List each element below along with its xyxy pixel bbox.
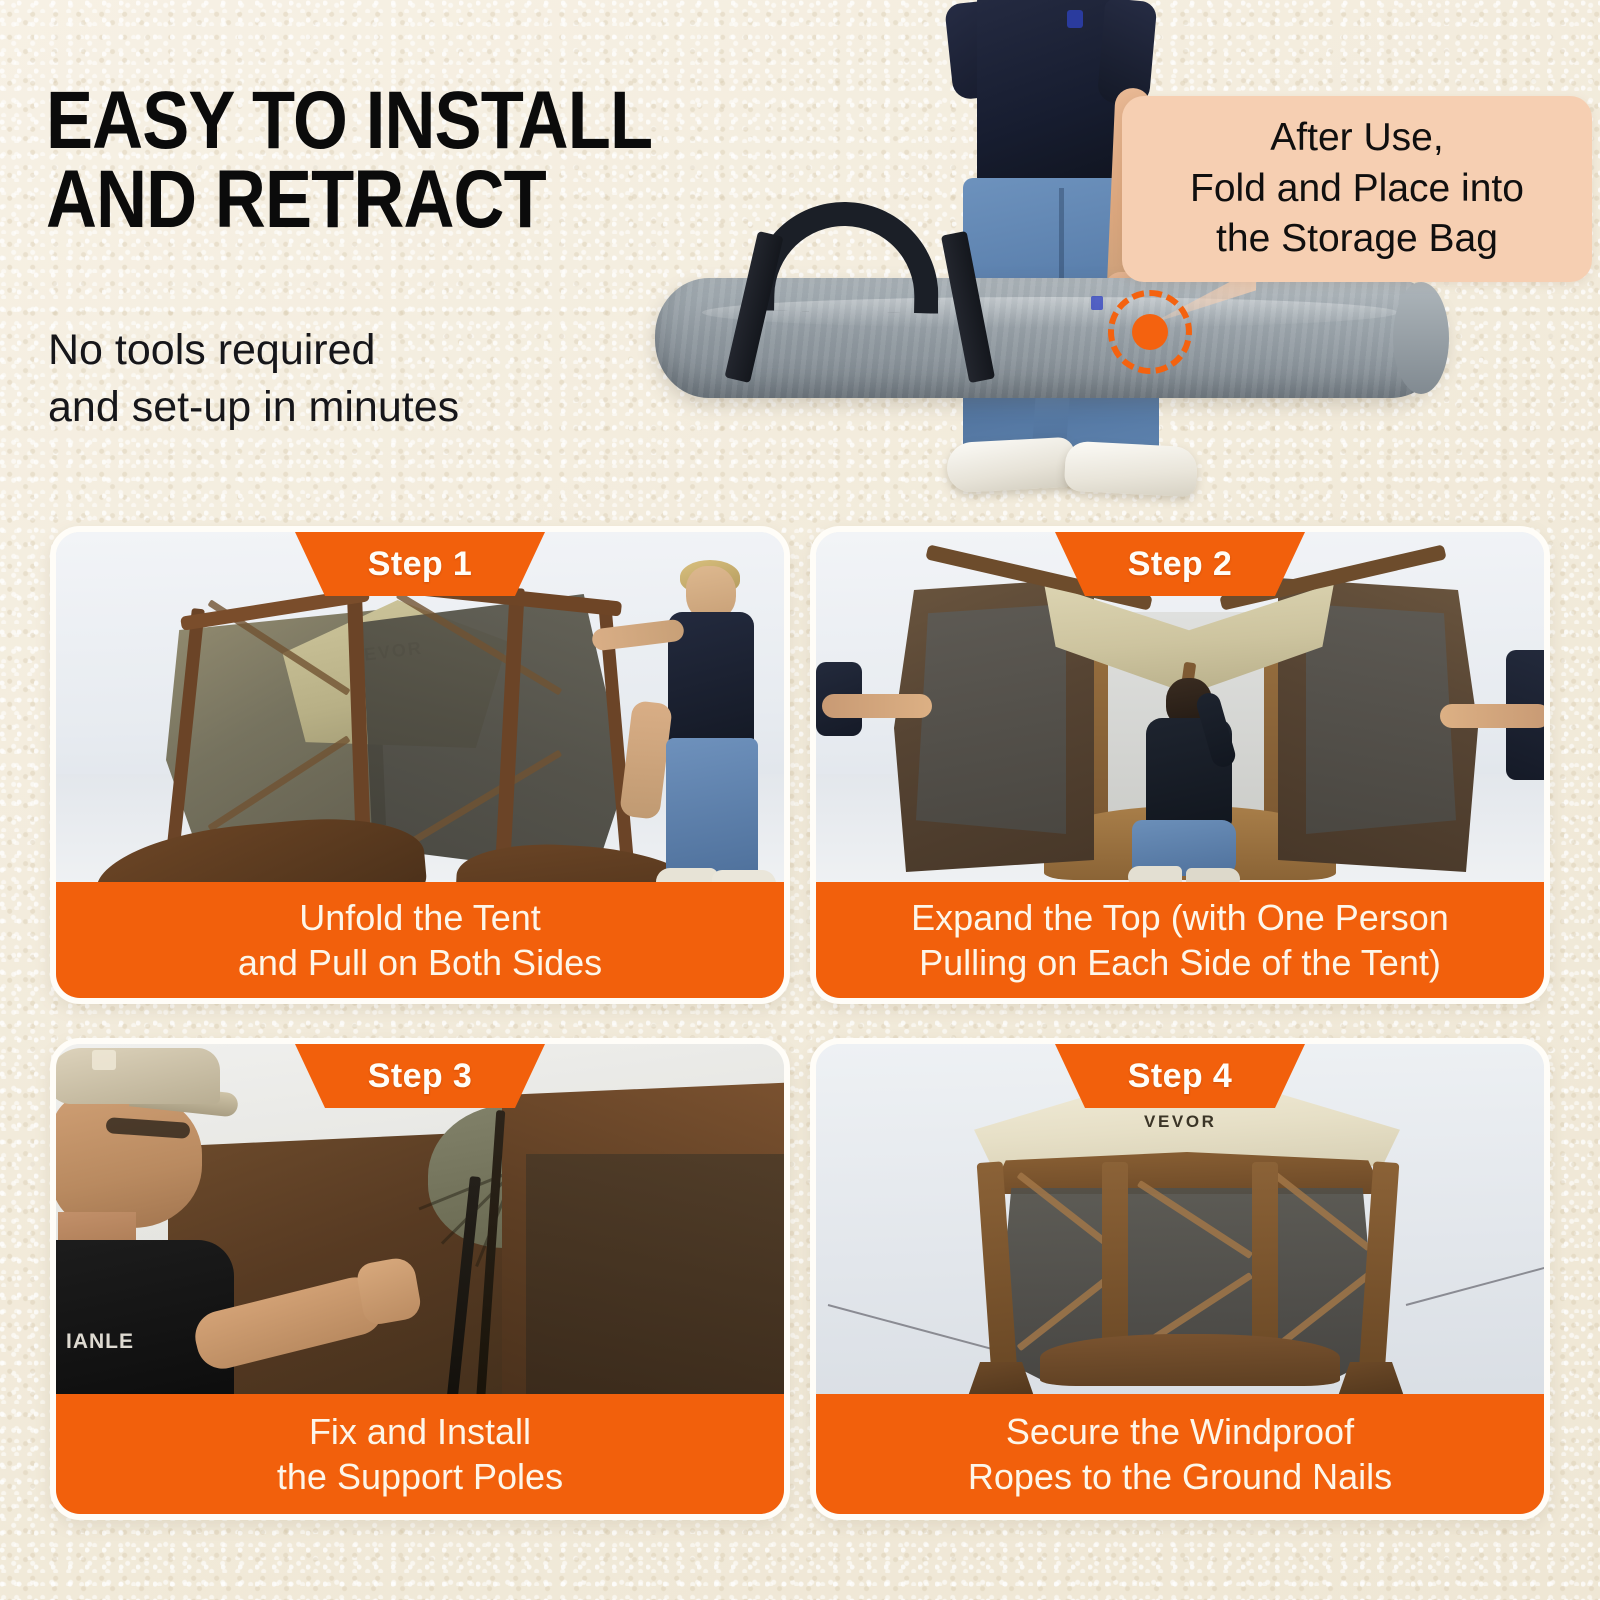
corner-post (1359, 1161, 1400, 1374)
step-2-badge-label: Step 2 (1128, 545, 1232, 584)
helper-hands (894, 554, 1478, 894)
step-1-badge: Step 1 (295, 532, 545, 596)
step-2-caption-line-2: Pulling on Each Side of the Tent) (919, 942, 1441, 983)
tent-mesh-closeup (526, 1154, 784, 1396)
step-2-caption-text: Expand the Top (with One Person Pulling … (911, 895, 1449, 985)
step-2-badge: Step 2 (1055, 532, 1305, 596)
tshirt-logo-patch (1067, 10, 1083, 28)
bag-label-tag (1091, 296, 1103, 310)
baseball-cap (56, 1048, 220, 1104)
step-3-caption-line-1: Fix and Install (309, 1411, 531, 1452)
step-card-1[interactable]: VEVOR Step 1 (50, 526, 790, 1004)
cross-brace (1273, 1172, 1372, 1251)
callout-text: After Use, Fold and Place into the Stora… (1190, 113, 1524, 265)
subtitle-line-2: and set-up in minutes (48, 379, 688, 436)
cross-brace (1017, 1172, 1116, 1251)
step-card-3[interactable]: IANLE Step 3 Fix and Install the Support… (50, 1038, 790, 1520)
cross-brace (1137, 1180, 1253, 1259)
step-4-caption-bar: Secure the Windproof Ropes to the Ground… (816, 1394, 1544, 1514)
collapsed-tent: VEVOR (166, 584, 626, 874)
helper-hand-left-pulling (822, 694, 932, 718)
cap-logo-patch (92, 1050, 116, 1070)
step-1-badge-label: Step 1 (368, 545, 472, 584)
step-4-caption-line-2: Ropes to the Ground Nails (968, 1456, 1392, 1497)
assembled-gazebo: VEVOR (962, 1066, 1412, 1404)
step-1-caption-text: Unfold the Tent and Pull on Both Sides (238, 895, 602, 985)
target-center-dot (1132, 314, 1168, 350)
target-marker-icon (1108, 290, 1192, 374)
step-3-badge-label: Step 3 (368, 1057, 472, 1096)
corner-post (977, 1161, 1018, 1374)
callout-line-3: the Storage Bag (1190, 214, 1524, 265)
bag-end-cap (1393, 282, 1449, 394)
step-card-2[interactable]: Step 2 Expand the Top (with One Person P… (810, 526, 1550, 1004)
headline-line-1: EASY TO INSTALL (46, 75, 652, 166)
expanding-tent (894, 554, 1478, 894)
headline-line-2: AND RETRACT (46, 161, 700, 240)
step-card-4[interactable]: VEVOR Step 4 Secure the Win (810, 1038, 1550, 1520)
step-1-caption-line-2: and Pull on Both Sides (238, 942, 602, 983)
storage-bag-callout: After Use, Fold and Place into the Stora… (1122, 96, 1592, 282)
left-sneaker (946, 437, 1076, 494)
storage-bag (655, 278, 1445, 398)
callout-line-1: After Use, (1190, 113, 1524, 164)
step-1-caption-line-1: Unfold the Tent (299, 897, 541, 938)
step-4-caption-line-1: Secure the Windproof (1006, 1411, 1354, 1452)
step-2-caption-line-1: Expand the Top (with One Person (911, 897, 1449, 938)
face (56, 1092, 202, 1228)
step-1-caption-bar: Unfold the Tent and Pull on Both Sides (56, 882, 784, 998)
step-3-badge: Step 3 (295, 1044, 545, 1108)
jeans (666, 738, 758, 880)
step-4-badge: Step 4 (1055, 1044, 1305, 1108)
hero-section: EASY TO INSTALL AND RETRACT No tools req… (0, 0, 1600, 520)
person-installing-pole: IANLE (56, 1044, 328, 1406)
callout-line-2: Fold and Place into (1190, 164, 1524, 215)
shirt-print-text: IANLE (66, 1330, 134, 1354)
step-3-caption-line-2: the Support Poles (277, 1456, 563, 1497)
step-3-caption-text: Fix and Install the Support Poles (277, 1409, 563, 1499)
step-3-caption-bar: Fix and Install the Support Poles (56, 1394, 784, 1514)
step-4-badge-label: Step 4 (1128, 1057, 1232, 1096)
right-sneaker (1064, 441, 1198, 498)
person-unfolding-tent (632, 566, 782, 894)
page-title: EASY TO INSTALL AND RETRACT (46, 82, 700, 239)
step-4-caption-text: Secure the Windproof Ropes to the Ground… (968, 1409, 1392, 1499)
helper-hand-right-pulling (1440, 704, 1544, 728)
page-subtitle: No tools required and set-up in minutes (48, 322, 688, 436)
gazebo-ground-skirt (1040, 1334, 1340, 1386)
step-2-caption-bar: Expand the Top (with One Person Pulling … (816, 882, 1544, 998)
subtitle-line-1: No tools required (48, 322, 688, 379)
